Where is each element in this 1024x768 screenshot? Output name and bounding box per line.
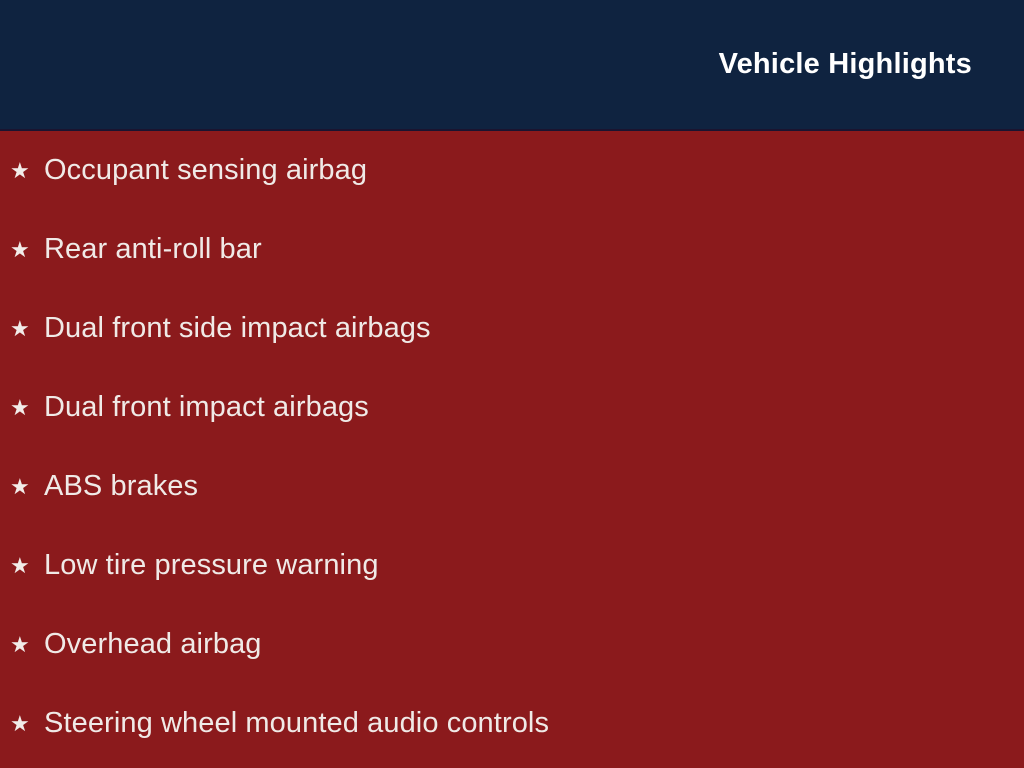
list-item: ★ Occupant sensing airbag: [0, 131, 1024, 210]
list-item-label: Steering wheel mounted audio controls: [44, 708, 549, 738]
list-item-label: Dual front side impact airbags: [44, 313, 431, 343]
list-item: ★ ABS brakes: [0, 447, 1024, 526]
page-title: Vehicle Highlights: [719, 0, 1024, 79]
slide: Vehicle Highlights ★ Occupant sensing ai…: [0, 0, 1024, 768]
star-bullet-icon: ★: [10, 713, 44, 735]
star-bullet-icon: ★: [10, 160, 44, 182]
list-item: ★ Steering wheel mounted audio controls: [0, 684, 1024, 763]
list-item: ★ Low tire pressure warning: [0, 526, 1024, 605]
star-bullet-icon: ★: [10, 397, 44, 419]
star-bullet-icon: ★: [10, 634, 44, 656]
list-item: ★ Overhead airbag: [0, 605, 1024, 684]
list-item: ★ Dual front side impact airbags: [0, 289, 1024, 368]
list-item-label: ABS brakes: [44, 471, 198, 501]
list-item: ★ Dual front impact airbags: [0, 368, 1024, 447]
list-item-label: Occupant sensing airbag: [44, 155, 367, 185]
star-bullet-icon: ★: [10, 318, 44, 340]
list-item-label: Overhead airbag: [44, 629, 262, 659]
star-bullet-icon: ★: [10, 476, 44, 498]
vehicle-highlights-list: ★ Occupant sensing airbag ★ Rear anti-ro…: [0, 131, 1024, 768]
list-item-label: Low tire pressure warning: [44, 550, 379, 580]
list-item-label: Rear anti-roll bar: [44, 234, 262, 264]
star-bullet-icon: ★: [10, 239, 44, 261]
list-item: ★ Rear anti-roll bar: [0, 210, 1024, 289]
star-bullet-icon: ★: [10, 555, 44, 577]
slide-header: Vehicle Highlights: [0, 0, 1024, 131]
list-item-label: Dual front impact airbags: [44, 392, 369, 422]
